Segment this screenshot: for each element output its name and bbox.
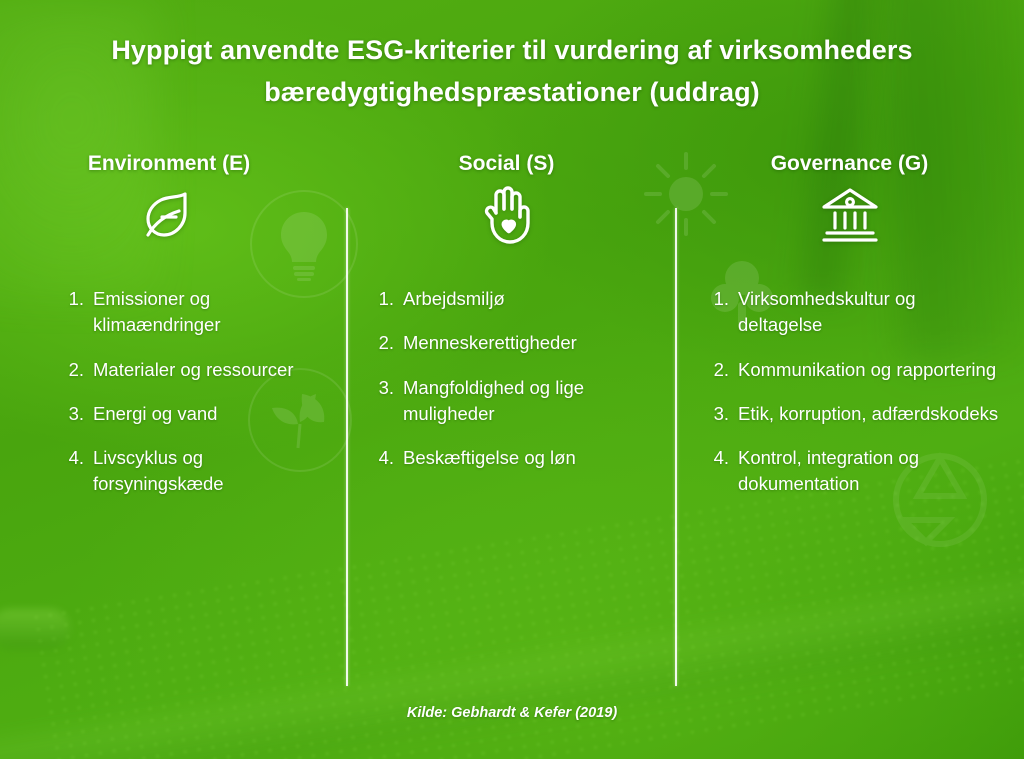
list-item: 4. Kontrol, integration og dokumentation (703, 445, 1002, 498)
column-heading-governance: Governance (G) (771, 152, 929, 176)
page-title: Hyppigt anvendte ESG-kriterier til vurde… (0, 30, 1024, 114)
list-environment: 1. Emissioner og klimaændringer 2. Mater… (0, 286, 338, 516)
title-line-1: Hyppigt anvendte ESG-kriterier til vurde… (60, 30, 964, 72)
list-item-number: 3. (368, 375, 394, 428)
source-citation: Kilde: Gebhardt & Kefer (2019) (0, 705, 1024, 721)
list-item-text: Arbejdsmiljø (403, 286, 657, 312)
list-item-number: 2. (703, 357, 729, 383)
list-item: 1. Arbejdsmiljø (368, 286, 657, 312)
list-governance: 1. Virksomhedskultur og deltagelse 2. Ko… (675, 286, 1024, 516)
list-item: 3. Energi og vand (58, 401, 316, 427)
hand-heart-icon (474, 182, 540, 248)
title-line-2: bæredygtighedspræstationer (uddrag) (60, 72, 964, 114)
list-item-text: Beskæftigelse og løn (403, 445, 657, 471)
list-item-number: 1. (703, 286, 729, 339)
list-item-text: Etik, korruption, adfærdskodeks (738, 401, 1002, 427)
list-item-number: 3. (703, 401, 729, 427)
list-item-number: 3. (58, 401, 84, 427)
list-item-number: 4. (58, 445, 84, 498)
esg-columns: Environment (E) 1. Emissioner og klimaæn… (0, 152, 1024, 712)
list-item-number: 4. (703, 445, 729, 498)
list-item-text: Menneskerettigheder (403, 330, 657, 356)
list-item: 1. Virksomhedskultur og deltagelse (703, 286, 1002, 339)
list-item-text: Kommunikation og rapportering (738, 357, 1002, 383)
column-social: Social (S) 1. Arbejdsmiljø 2. Mennesker (338, 152, 675, 712)
list-item-number: 2. (58, 357, 84, 383)
list-item-number: 4. (368, 445, 394, 471)
list-item-text: Livscyklus og forsyningskæde (93, 445, 316, 498)
list-item-number: 2. (368, 330, 394, 356)
list-social: 1. Arbejdsmiljø 2. Menneskerettigheder 3… (338, 286, 675, 489)
list-item: 4. Livscyklus og forsyningskæde (58, 445, 316, 498)
list-item: 3. Mangfoldighed og lige muligheder (368, 375, 657, 428)
list-item-number: 1. (368, 286, 394, 312)
list-item-text: Emissioner og klimaændringer (93, 286, 316, 339)
list-item: 2. Materialer og ressourcer (58, 357, 316, 383)
list-item-text: Kontrol, integration og dokumentation (738, 445, 1002, 498)
leaf-icon (136, 182, 202, 248)
bank-building-icon (817, 182, 883, 248)
list-item: 4. Beskæftigelse og løn (368, 445, 657, 471)
list-item: 1. Emissioner og klimaændringer (58, 286, 316, 339)
column-heading-environment: Environment (E) (88, 152, 250, 176)
esg-infographic: Hyppigt anvendte ESG-kriterier til vurde… (0, 0, 1024, 759)
list-item-text: Materialer og ressourcer (93, 357, 316, 383)
column-governance: Governance (G) 1. Virksomhedskultur og d… (675, 152, 1024, 712)
list-item-text: Energi og vand (93, 401, 316, 427)
list-item: 2. Menneskerettigheder (368, 330, 657, 356)
list-item: 3. Etik, korruption, adfærdskodeks (703, 401, 1002, 427)
column-environment: Environment (E) 1. Emissioner og klimaæn… (0, 152, 338, 712)
list-item-text: Virksomhedskultur og deltagelse (738, 286, 1002, 339)
list-item-number: 1. (58, 286, 84, 339)
list-item-text: Mangfoldighed og lige muligheder (403, 375, 657, 428)
list-item: 2. Kommunikation og rapportering (703, 357, 1002, 383)
column-heading-social: Social (S) (459, 152, 555, 176)
